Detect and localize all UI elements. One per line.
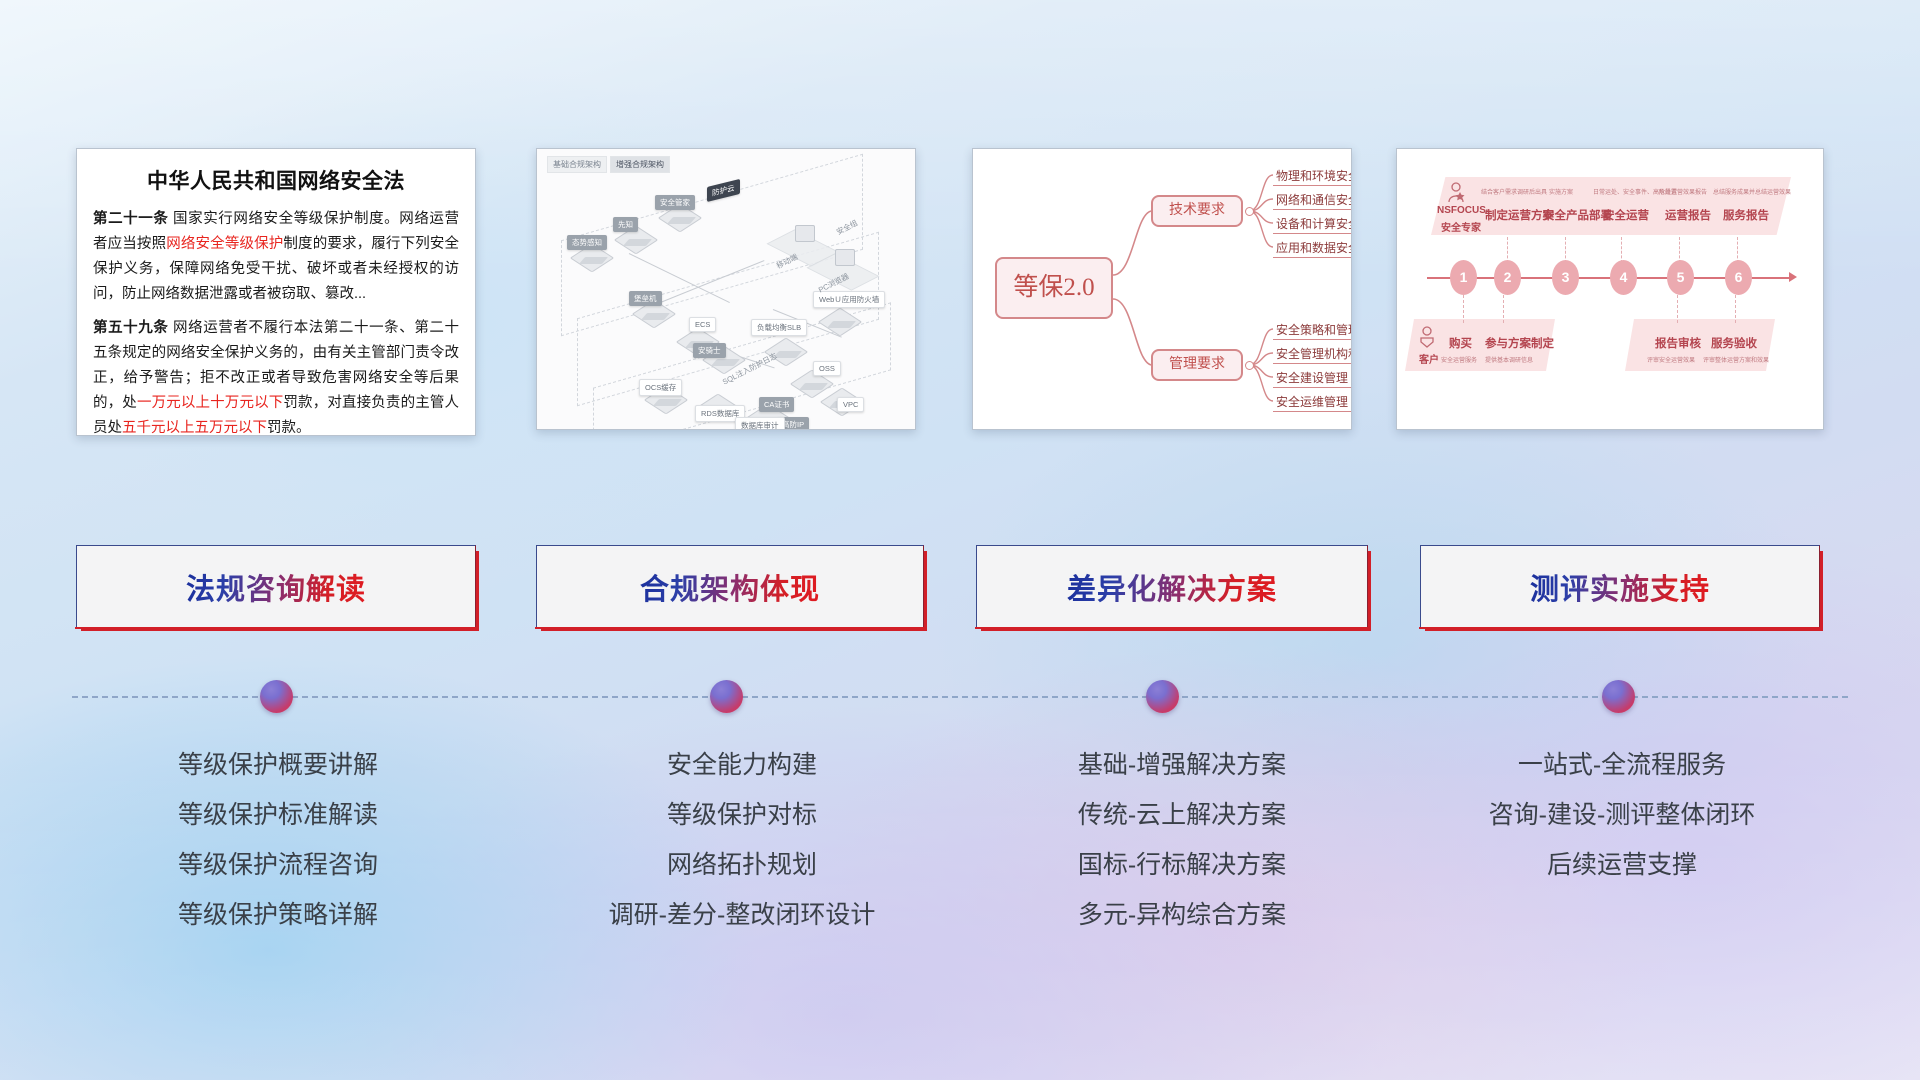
list-item: 后续运营支撑 [1380,840,1864,890]
timeline-top-title-4: 运营报告 [1665,207,1711,223]
arch-label-db-audit: 数据库审计 [735,417,785,430]
list-item: 安全能力构建 [500,740,984,790]
arch-label-ca-cert: CA证书 [759,397,794,412]
architecture-diagram: 基础合规架构 增强合规架构 [537,149,915,429]
mindmap-leaf-physical-env: 物理和环境安全 [1273,167,1352,186]
timeline-node-3: 3 [1552,260,1579,295]
security-expert-person-icon [1445,181,1467,203]
architecture-thumbnail-card[interactable]: 基础合规架构 增强合规架构 [536,148,916,430]
process-bead-4[interactable] [1602,680,1635,713]
headline-label-4: 测评实施支持 [1530,566,1710,608]
timeline-bottom-title-1: 购买 [1449,335,1472,351]
arch-label-oss: OSS [813,361,841,376]
timeline-bottom-title-3: 报告审核 [1655,335,1701,351]
detail-column-solution: 基础-增强解决方案 传统-云上解决方案 国标-行标解决方案 多元-异构综合方案 [940,740,1424,940]
timeline-bottom-sub-2: 提供基本调研信息 [1485,355,1533,364]
list-item: 基础-增强解决方案 [940,740,1424,790]
list-item: 等级保护概要讲解 [36,740,520,790]
detail-column-assessment: 一站式-全流程服务 咨询-建设-测评整体闭环 后续运营支撑 [1380,740,1864,890]
list-item: 等级保护标准解读 [36,790,520,840]
customer-person-icon [1417,325,1437,349]
list-item: 调研-差分-整改闭环设计 [500,890,984,940]
timeline-node-2: 2 [1494,260,1521,295]
timeline-top-sub-5: 总结服务成果并总结运营效果 [1713,187,1791,196]
timeline-node-5: 5 [1667,260,1694,295]
headline-box-differentiated-solution[interactable]: 差异化解决方案 [976,545,1368,627]
law-article-21-seg-1: 网络安全等级保护 [166,236,283,252]
arch-label-slb: 负载均衡SLB [751,319,807,336]
slide-root: 中华人民共和国网络安全法 第二十一条 国家实行网络安全等级保护制度。网络运营者应… [0,0,1920,1080]
timeline-bottom-title-4: 服务验收 [1711,335,1757,351]
timeline-node-1: 1 [1450,260,1477,295]
mindmap-diagram: 等保2.0 技术要求 物理和环境安全 网络和通信安全 设备和计算安全 应用和数据… [973,149,1351,429]
headline-label-1: 法规咨询解读 [186,566,366,608]
law-article-59-seg-1: 一万元以上十万元以下 [137,395,283,411]
timeline-actor-nsfocus-role: 安全专家 [1441,219,1481,234]
mindmap-leaf-ops-mgmt: 安全运维管理 [1273,393,1351,412]
arch-label-ocs: OCS缓存 [639,379,682,396]
arch-label-ecs: ECS [689,317,716,332]
law-thumbnail-card[interactable]: 中华人民共和国网络安全法 第二十一条 国家实行网络安全等级保护制度。网络运营者应… [76,148,476,436]
headline-box-regulation-consulting[interactable]: 法规咨询解读 [76,545,476,627]
mindmap-leaf-policy-system: 安全策略和管理制度 [1273,321,1352,340]
timeline-top-sub-2: 实施方案 [1549,187,1573,196]
list-item: 等级保护流程咨询 [36,840,520,890]
law-article-21-number: 第二十一条 [93,211,168,227]
arch-label-situation: 态势感知 [567,235,607,250]
list-item: 网络拓扑规划 [500,840,984,890]
thumbnail-card-row: 中华人民共和国网络安全法 第二十一条 国家实行网络安全等级保护制度。网络运营者应… [0,148,1920,448]
timeline-node-4: 4 [1610,260,1637,295]
timeline-bottom-sub-4: 评审整体运营方案和效果 [1703,355,1769,364]
arch-label-xianzhi: 先知 [613,217,638,232]
mindmap-leaf-construction-mgmt: 安全建设管理 [1273,369,1351,388]
timeline-node-6: 6 [1725,260,1752,295]
timeline-actor-nsfocus-name: NSFOCUS [1437,205,1486,216]
process-bead-2[interactable] [710,680,743,713]
headline-box-compliance-architecture[interactable]: 合规架构体现 [536,545,924,627]
list-item: 等级保护对标 [500,790,984,840]
arch-label-butler: 安全管家 [655,195,695,210]
timeline-connector-5-down [1677,295,1679,323]
architecture-tab-bar: 基础合规架构 增强合规架构 [547,156,670,173]
headline-box-assessment-support[interactable]: 测评实施支持 [1420,545,1820,627]
law-article-59: 第五十九条 网络运营者不履行本法第二十一条、第二十五条规定的网络安全保护义务的，… [93,316,459,436]
mindmap-leaf-device-compute: 设备和计算安全 [1273,215,1352,234]
process-rail [72,696,1848,700]
timeline-top-title-5: 服务报告 [1723,207,1769,223]
mindmap-leaf-network-comm: 网络和通信安全 [1273,191,1352,210]
timeline-connector-1-down [1463,295,1465,323]
timeline-actor-customer-name: 客户 [1419,351,1439,366]
list-item: 传统-云上解决方案 [940,790,1424,840]
timeline-bottom-sub-3: 评审安全运营效果 [1647,355,1695,364]
timeline-connector-6-down [1735,295,1737,323]
list-item: 一站式-全流程服务 [1380,740,1864,790]
iso-screen-pc [835,249,855,266]
timeline-bottom-title-2: 参与方案制定 [1485,335,1554,351]
mindmap-leaf-app-data: 应用和数据安全 [1273,239,1352,258]
law-article-21: 第二十一条 国家实行网络安全等级保护制度。网络运营者应当按照网络安全等级保护制度… [93,207,459,307]
law-article-59-seg-3: 五千元以上五万元以下 [122,420,267,436]
mindmap-dot-management [1245,361,1254,370]
list-item: 咨询-建设-测评整体闭环 [1380,790,1864,840]
arch-label-vpc: VPC [837,397,864,412]
mindmap-branch-technical: 技术要求 [1151,195,1243,227]
list-item: 多元-异构综合方案 [940,890,1424,940]
process-bead-3[interactable] [1146,680,1179,713]
mindmap-thumbnail-card[interactable]: 等保2.0 技术要求 物理和环境安全 网络和通信安全 设备和计算安全 应用和数据… [972,148,1352,430]
arch-label-agent: 安骑士 [693,343,726,358]
service-timeline-thumbnail-card[interactable]: NSFOCUS 安全专家 结合客户需求调研后出具 制定运营方案 实施方案 安全产… [1396,148,1824,430]
law-article-59-number: 第五十九条 [93,320,168,336]
timeline-top-sub-4: 阶段运营效果报告 [1659,187,1707,196]
mindmap-dot-technical [1245,207,1254,216]
headline-label-2: 合规架构体现 [640,566,820,608]
iso-node-waf [827,309,861,333]
timeline-bottom-sub-1: 安全运营服务 [1441,355,1477,364]
detail-column-architecture: 安全能力构建 等级保护对标 网络拓扑规划 调研-差分-整改闭环设计 [500,740,984,940]
law-article-59-seg-4: 罚款。 [267,420,311,436]
architecture-tab-basic[interactable]: 基础合规架构 [547,156,607,173]
service-timeline-diagram: NSFOCUS 安全专家 结合客户需求调研后出具 制定运营方案 实施方案 安全产… [1397,149,1823,429]
list-item: 国标-行标解决方案 [940,840,1424,890]
timeline-arrow-icon [1789,272,1797,282]
arch-label-bastion: 堡垒机 [629,291,662,306]
timeline-top-sub-1: 结合客户需求调研后出具 [1481,187,1547,196]
mindmap-branch-management: 管理要求 [1151,349,1243,381]
architecture-tab-enhanced[interactable]: 增强合规架构 [610,156,670,173]
timeline-top-title-2: 安全产品部署 [1543,207,1612,223]
detail-column-regulation: 等级保护概要讲解 等级保护标准解读 等级保护流程咨询 等级保护策略详解 [36,740,520,940]
headline-label-3: 差异化解决方案 [1067,566,1277,608]
headline-row: 法规咨询解读 合规架构体现 差异化解决方案 测评实施支持 [0,545,1920,645]
mindmap-leaf-org-personnel: 安全管理机构和人员 [1273,345,1352,364]
process-bead-1[interactable] [260,680,293,713]
law-card-title: 中华人民共和国网络安全法 [93,165,459,195]
timeline-top-title-3: 安全运营 [1603,207,1649,223]
list-item: 等级保护策略详解 [36,890,520,940]
timeline-connector-2-down [1503,295,1505,323]
iso-screen-mobile [795,225,815,242]
